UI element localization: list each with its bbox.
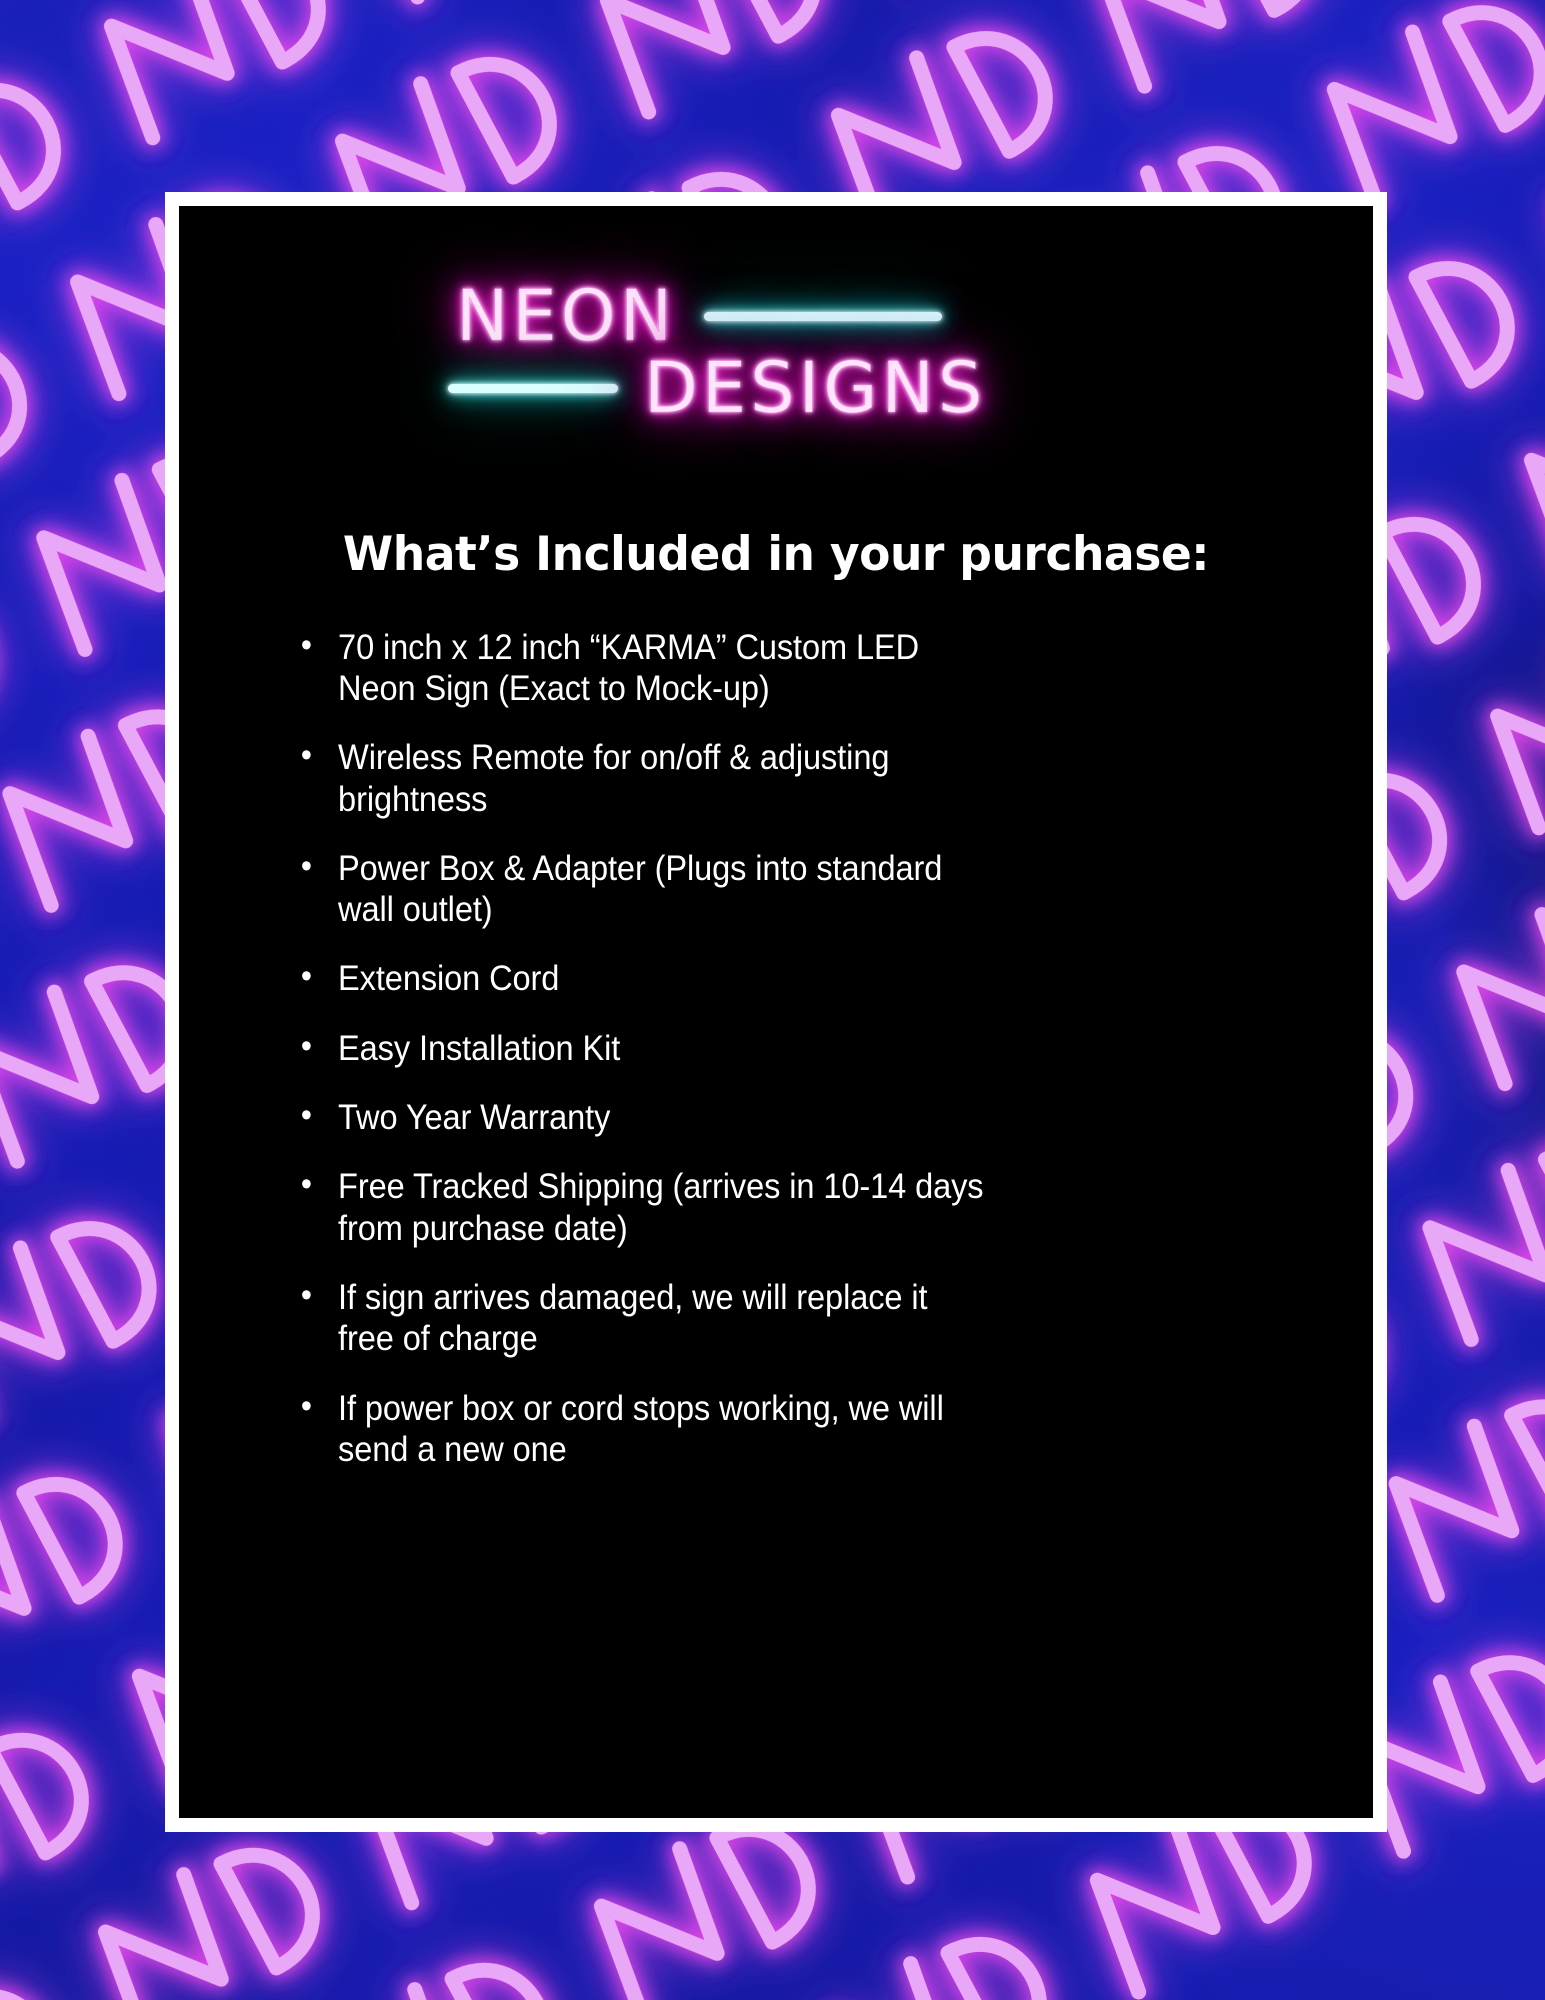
list-item: Two Year Warranty [299, 1097, 989, 1138]
content-card: NEON DESIGNS What’s Included in your pur… [179, 206, 1373, 1818]
page-title: What’s Included in your purchase: [197, 529, 1355, 581]
list-item: 70 inch x 12 inch “KARMA” Custom LED Neo… [299, 627, 989, 710]
cyan-bar-right-icon [704, 312, 942, 321]
logo-line-1: NEON [436, 276, 1116, 356]
list-item: Power Box & Adapter (Plugs into standard… [299, 848, 989, 931]
logo-word-designs: DESIGNS [644, 353, 986, 423]
list-item: Easy Installation Kit [299, 1028, 989, 1069]
included-items-list: 70 inch x 12 inch “KARMA” Custom LED Neo… [179, 627, 1373, 1470]
list-item: If sign arrives damaged, we will replace… [299, 1277, 989, 1360]
list-item: Wireless Remote for on/off & adjusting b… [299, 737, 989, 820]
logo-word-neon: NEON [456, 281, 676, 351]
list-item: Free Tracked Shipping (arrives in 10-14 … [299, 1166, 989, 1249]
neon-designs-logo: NEON DESIGNS [436, 206, 1116, 491]
list-item: If power box or cord stops working, we w… [299, 1388, 989, 1471]
cyan-bar-left-icon [448, 384, 618, 393]
logo-line-2: DESIGNS [436, 348, 1116, 428]
content-card-frame: NEON DESIGNS What’s Included in your pur… [165, 192, 1387, 1832]
list-item: Extension Cord [299, 958, 989, 999]
page-root: NEON DESIGNS What’s Included in your pur… [0, 0, 1545, 2000]
